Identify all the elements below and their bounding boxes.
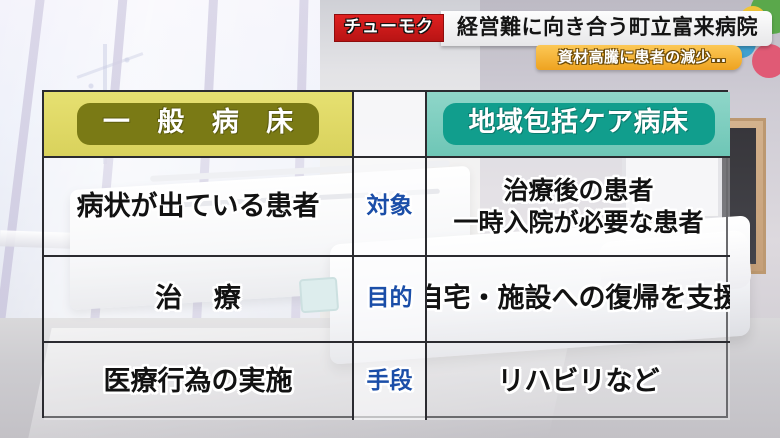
cell-right-means: リハビリなど [498, 366, 660, 398]
table-header-left: 一 般 病 床 [44, 92, 354, 158]
cell-right-target: 治療後の患者一時入院が必要な患者 [453, 175, 703, 238]
table-header-middle [354, 92, 427, 158]
row-label-target: 対象 [367, 193, 413, 221]
table-row: 病状が出ている患者 [44, 158, 354, 257]
table-row: 治療後の患者一時入院が必要な患者 [427, 158, 730, 257]
cell-right-purpose: 自宅・施設への復帰を支援 [427, 283, 730, 315]
comparison-table: 一 般 病 床 地域包括ケア病床 病状が出ている患者 対象 治療後の患者一時入院… [42, 90, 728, 418]
screenshot-stage: チューモク 経営難に向き合う町立富来病院 資材高騰に患者の減少… 一 般 病 床… [0, 0, 780, 438]
table-row: 自宅・施設への復帰を支援 [427, 257, 730, 343]
row-label-means: 手段 [367, 368, 413, 396]
table-row: 治 療 [44, 257, 354, 343]
general-ward-label: 一 般 病 床 [77, 103, 319, 144]
cell-left-target: 病状が出ている患者 [77, 191, 320, 223]
cell-left-purpose: 治 療 [144, 283, 251, 315]
table-row: リハビリなど [427, 343, 730, 420]
table-header-right: 地域包括ケア病床 [427, 92, 730, 158]
table-row-label-target: 対象 [354, 158, 427, 257]
cell-right-target-line2: 一時入院が必要な患者 [453, 208, 703, 237]
table-row-label-means: 手段 [354, 343, 427, 420]
community-care-ward-label: 地域包括ケア病床 [443, 103, 715, 144]
cell-right-target-line1: 治療後の患者 [503, 176, 653, 205]
table-row: 医療行為の実施 [44, 343, 354, 420]
table-row-label-purpose: 目的 [354, 257, 427, 343]
row-label-purpose: 目的 [367, 285, 413, 313]
cell-left-means: 医療行為の実施 [104, 366, 293, 398]
